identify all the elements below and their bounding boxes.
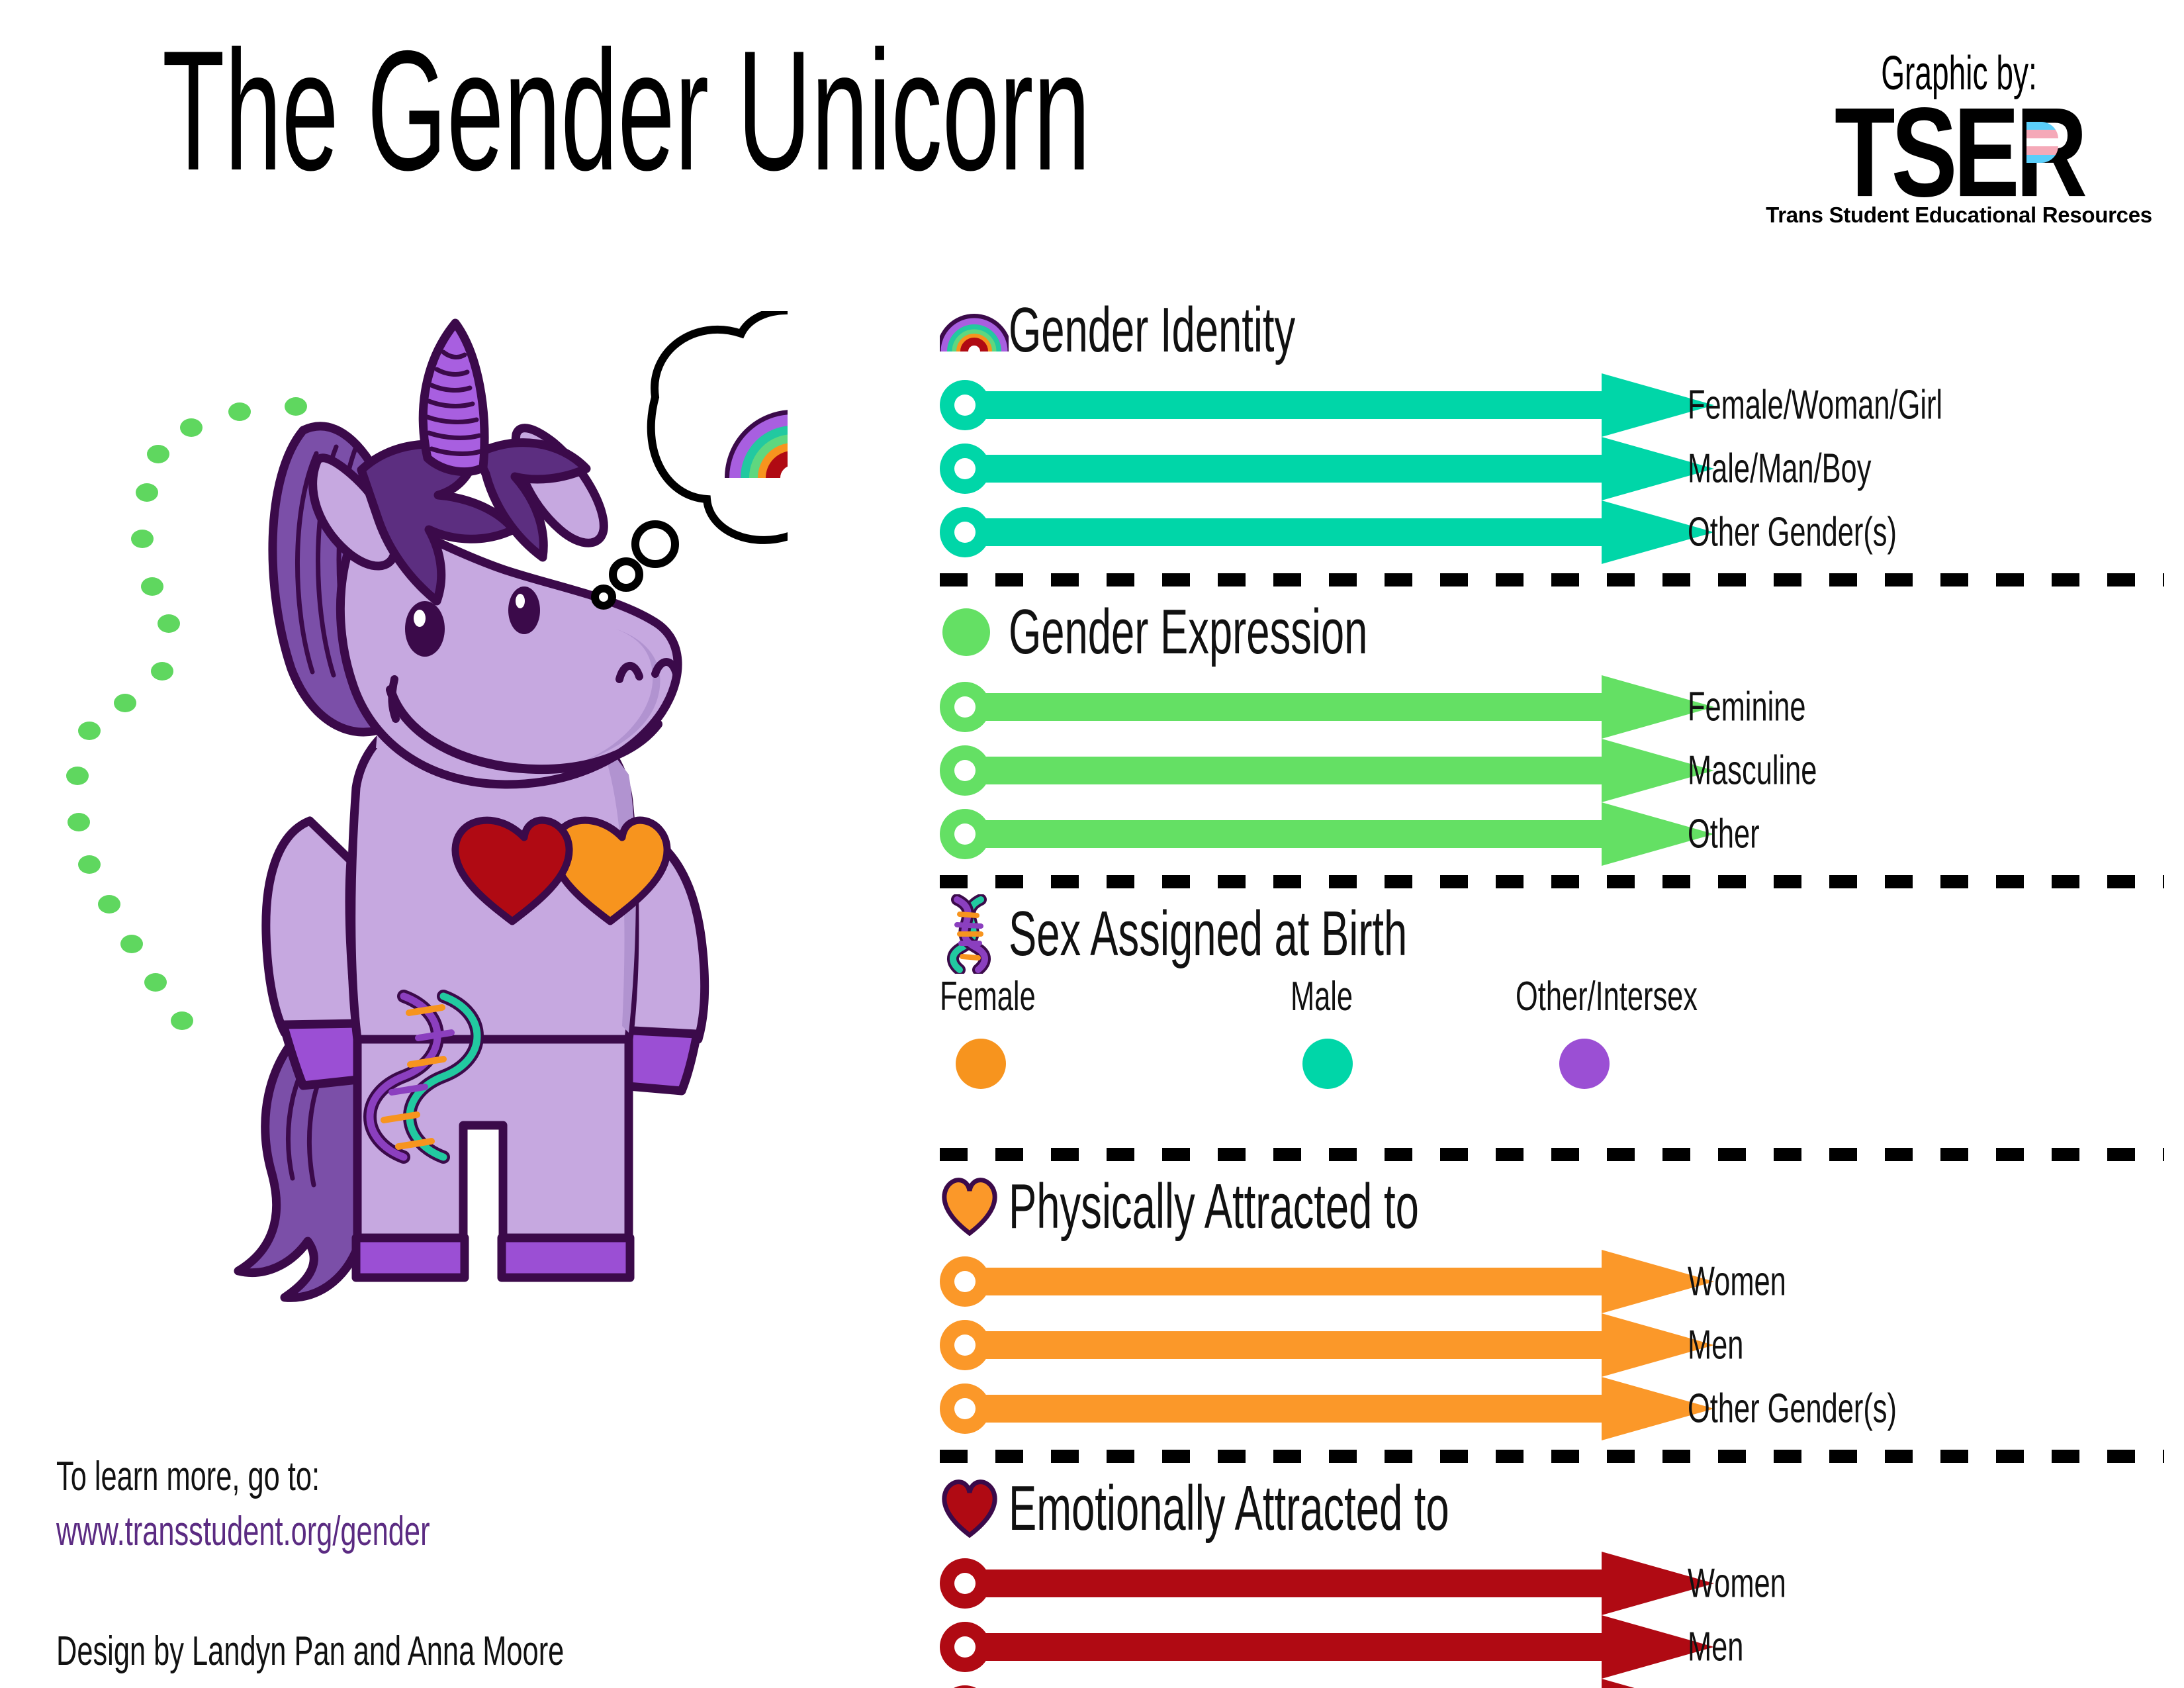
- tser-credit-block: Graphic by: TSER Trans Student Education…: [1760, 46, 2158, 228]
- arrow-label: Feminine: [1688, 684, 1856, 731]
- section-header: Gender Expression: [940, 593, 2164, 671]
- section-divider: [940, 875, 2164, 888]
- section-divider: [940, 573, 2164, 586]
- arrow-shaft: [978, 1633, 1653, 1661]
- spectrum-rows: Women Men Other Gender(s): [940, 1552, 2164, 1688]
- spectrum-rows: Female/Woman/Girl Male/Man/Boy Other Gen…: [940, 373, 2164, 564]
- arrow-label: Other Gender(s): [1688, 509, 1986, 556]
- arrow-label: Masculine: [1688, 747, 1872, 794]
- sab-options: Female Male Other/Intersex: [940, 973, 2164, 1139]
- arrow-label: Other Gender(s): [1688, 1385, 1986, 1432]
- section-sex-assigned-at-birth: Sex Assigned at Birth Female Male Other/…: [940, 895, 2164, 1139]
- section-header: Physically Attracted to: [940, 1168, 2164, 1246]
- arrow-shaft: [978, 1570, 1653, 1597]
- spectrum-row[interactable]: Feminine: [940, 675, 2164, 739]
- design-credit: Design by Landyn Pan and Anna Moore: [56, 1628, 782, 1675]
- section-physically-attracted-to: Physically Attracted to Women Men Other …: [940, 1168, 2164, 1440]
- arrow-label: Other: [1688, 811, 1790, 858]
- sab-circle[interactable]: [1559, 1039, 1610, 1089]
- section-title: Gender Identity: [1009, 294, 1295, 367]
- page-title: The Gender Unicorn: [162, 25, 1091, 196]
- sab-label: Male: [1291, 973, 1379, 1020]
- arrow-shaft: [978, 1268, 1653, 1295]
- sab-label: Female: [940, 973, 1077, 1020]
- section-gender-identity: Gender Identity Female/Woman/Girl Male/M…: [940, 291, 2164, 564]
- arrow-shaft: [978, 820, 1653, 848]
- arrow-label: Men: [1688, 1322, 1768, 1369]
- spectrum-row[interactable]: Other Gender(s): [940, 1679, 2164, 1688]
- green-dot-icon: [940, 604, 1011, 661]
- spectrum-row[interactable]: Female/Woman/Girl: [940, 373, 2164, 437]
- spectrum-row[interactable]: Men: [940, 1615, 2164, 1679]
- arrow-shaft: [978, 757, 1653, 784]
- spectrum-rows: Women Men Other Gender(s): [940, 1250, 2164, 1440]
- section-title: Emotionally Attracted to: [1009, 1472, 1449, 1545]
- spectrum-row[interactable]: Other Gender(s): [940, 500, 2164, 564]
- section-header: Sex Assigned at Birth: [940, 895, 2164, 973]
- rainbow-icon: [940, 305, 1011, 355]
- sab-circle[interactable]: [1302, 1039, 1353, 1089]
- section-header: Emotionally Attracted to: [940, 1470, 2164, 1548]
- orange-heart-icon: [940, 1178, 1011, 1236]
- section-divider: [940, 1450, 2164, 1463]
- spectrum-row[interactable]: Male/Man/Boy: [940, 437, 2164, 500]
- arrow-shaft: [978, 1331, 1653, 1359]
- spectrum-row[interactable]: Masculine: [940, 739, 2164, 802]
- dna-icon: [940, 894, 1011, 974]
- website-link[interactable]: www.transstudent.org/gender: [56, 1508, 782, 1555]
- arrow-label: Men: [1688, 1624, 1768, 1671]
- spectrum-row[interactable]: Women: [940, 1552, 2164, 1615]
- learn-more-label: To learn more, go to:: [56, 1453, 782, 1500]
- section-emotionally-attracted-to: Emotionally Attracted to Women Men Other…: [940, 1470, 2164, 1688]
- arrow-label: Women: [1688, 1258, 1829, 1305]
- sab-circle[interactable]: [956, 1039, 1006, 1089]
- section-title: Physically Attracted to: [1009, 1170, 1419, 1243]
- sab-option-female[interactable]: Female: [940, 973, 1077, 1089]
- arrow-shaft: [978, 391, 1653, 419]
- arrow-cap[interactable]: [940, 1685, 990, 1688]
- arrow-shaft: [978, 455, 1653, 483]
- unicorn-illustration: [192, 311, 788, 1370]
- arrow-label: Male/Man/Boy: [1688, 445, 1950, 492]
- arrow-shaft: [978, 693, 1653, 721]
- red-heart-icon: [940, 1479, 1011, 1538]
- sab-option-male[interactable]: Male: [1291, 973, 1379, 1089]
- section-title: Gender Expression: [1009, 596, 1367, 669]
- arrow-label: Women: [1688, 1560, 1829, 1607]
- section-title: Sex Assigned at Birth: [1009, 898, 1407, 970]
- footer: To learn more, go to: www.transstudent.o…: [56, 1453, 782, 1683]
- arrow-shaft: [978, 1395, 1653, 1423]
- sab-label: Other/Intersex: [1516, 973, 1776, 1020]
- trans-flag-icon: [2026, 122, 2058, 163]
- spectrum-row[interactable]: Men: [940, 1313, 2164, 1377]
- section-divider: [940, 1148, 2164, 1161]
- tser-logo: TSER: [1835, 102, 2083, 180]
- sab-option-other-intersex[interactable]: Other/Intersex: [1516, 973, 1776, 1089]
- spectrum-sections: Gender Identity Female/Woman/Girl Male/M…: [940, 291, 2164, 1688]
- spectrum-row[interactable]: Women: [940, 1250, 2164, 1313]
- spectrum-rows: Feminine Masculine Other: [940, 675, 2164, 866]
- spectrum-row[interactable]: Other: [940, 802, 2164, 866]
- section-header: Gender Identity: [940, 291, 2164, 369]
- arrow-label: Female/Woman/Girl: [1688, 382, 2052, 429]
- arrow-shaft: [978, 518, 1653, 546]
- spectrum-row[interactable]: Other Gender(s): [940, 1377, 2164, 1440]
- section-gender-expression: Gender Expression Feminine Masculine Oth…: [940, 593, 2164, 866]
